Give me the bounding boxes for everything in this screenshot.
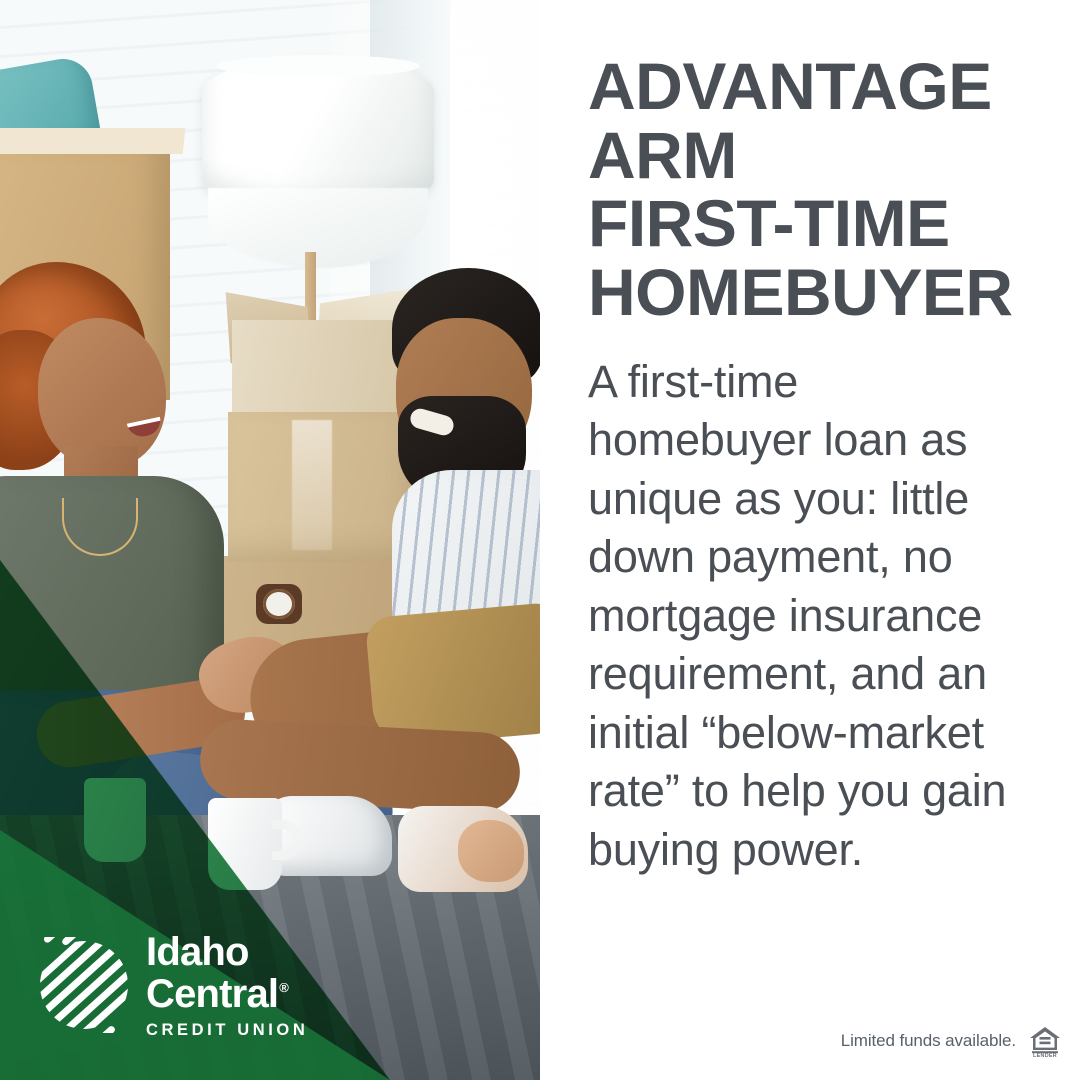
idaho-central-slash-mark-icon: [38, 937, 130, 1033]
packing-tape: [292, 420, 332, 550]
copy-panel: ADVANTAGE ARM FIRST-TIME HOMEBUYER A fir…: [540, 0, 1080, 1080]
brand-wordmark-line2: Central®: [146, 974, 308, 1014]
brand-wordmark: Idaho Central® CREDIT UNION: [146, 932, 308, 1039]
hero-photo: Idaho Central® CREDIT UNION: [0, 0, 540, 1080]
man-sneaker-right: [398, 806, 528, 892]
advertisement-creative: Idaho Central® CREDIT UNION ADVANTAGE AR…: [0, 0, 1080, 1080]
page-title: ADVANTAGE ARM FIRST-TIME HOMEBUYER: [588, 52, 1022, 327]
disclaimer-text: Limited funds available.: [841, 1031, 1016, 1051]
brand-wordmark-line1: Idaho: [146, 932, 308, 972]
svg-text:LENDER: LENDER: [1033, 1053, 1057, 1058]
man-wristwatch: [256, 584, 302, 624]
brand-wordmark-line3: CREDIT UNION: [146, 1022, 308, 1039]
registered-trademark-symbol: ®: [279, 980, 288, 995]
man-shorts: [365, 602, 540, 748]
equal-housing-lender-icon: LENDER: [1028, 1024, 1062, 1058]
brand-logo-lockup: Idaho Central® CREDIT UNION: [38, 932, 308, 1039]
footer-disclaimer-row: Limited funds available. LENDER: [841, 1024, 1062, 1058]
cardboard-box-lid: [0, 128, 185, 154]
body-copy: A first-time homebuyer loan as unique as…: [588, 353, 1022, 880]
open-cardboard-box: [232, 320, 407, 420]
